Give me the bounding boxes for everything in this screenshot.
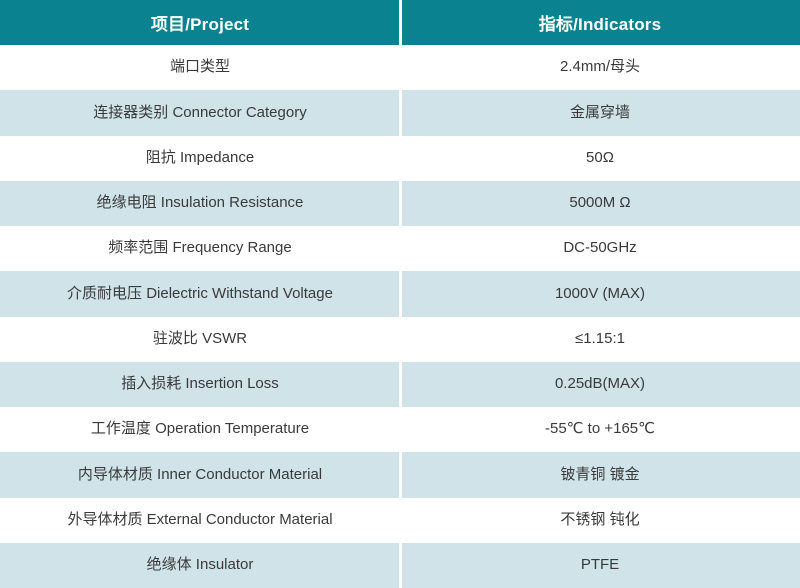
table-cell-project: 介质耐电压 Dielectric Withstand Voltage <box>0 271 400 316</box>
table-cell-indicator: -55℃ to +165℃ <box>400 407 800 452</box>
column-divider <box>399 181 402 226</box>
table-cell-project: 插入损耗 Insertion Loss <box>0 362 400 407</box>
table-cell-indicator: 2.4mm/母头 <box>400 45 800 90</box>
column-divider <box>399 226 402 271</box>
table-row: 频率范围 Frequency RangeDC-50GHz <box>0 226 800 271</box>
table-cell-project: 绝缘电阻 Insulation Resistance <box>0 181 400 226</box>
table-row: 插入损耗 Insertion Loss0.25dB(MAX) <box>0 362 800 407</box>
specification-table: 项目/Project 指标/Indicators 端口类型2.4mm/母头连接器… <box>0 0 800 588</box>
table-cell-project: 工作温度 Operation Temperature <box>0 407 400 452</box>
column-divider <box>399 452 402 497</box>
table-cell-project: 内导体材质 Inner Conductor Material <box>0 452 400 497</box>
column-divider <box>399 0 402 45</box>
table-row: 绝缘电阻 Insulation Resistance5000M Ω <box>0 181 800 226</box>
table-cell-indicator: 0.25dB(MAX) <box>400 362 800 407</box>
table-cell-indicator: DC-50GHz <box>400 226 800 271</box>
column-divider <box>399 407 402 452</box>
table-cell-indicator: PTFE <box>400 543 800 588</box>
table-cell-project: 外导体材质 External Conductor Material <box>0 498 400 543</box>
column-divider <box>399 362 402 407</box>
table-body: 端口类型2.4mm/母头连接器类别 Connector Category金属穿墙… <box>0 45 800 588</box>
table-cell-project: 绝缘体 Insulator <box>0 543 400 588</box>
column-divider <box>399 45 402 90</box>
table-row: 外导体材质 External Conductor Material不锈钢 钝化 <box>0 498 800 543</box>
table-row: 绝缘体 InsulatorPTFE <box>0 543 800 588</box>
table-cell-project: 阻抗 Impedance <box>0 136 400 181</box>
column-divider <box>399 317 402 362</box>
table-cell-project: 频率范围 Frequency Range <box>0 226 400 271</box>
table-cell-indicator: 5000M Ω <box>400 181 800 226</box>
table-row: 工作温度 Operation Temperature-55℃ to +165℃ <box>0 407 800 452</box>
table-cell-indicator: 50Ω <box>400 136 800 181</box>
column-divider <box>399 90 402 135</box>
column-divider <box>399 543 402 588</box>
column-divider <box>399 136 402 181</box>
table-cell-project: 驻波比 VSWR <box>0 317 400 362</box>
column-divider <box>399 498 402 543</box>
table-row: 端口类型2.4mm/母头 <box>0 45 800 90</box>
table-cell-project: 连接器类别 Connector Category <box>0 90 400 135</box>
table-header-cell-project: 项目/Project <box>0 0 400 45</box>
table-cell-project: 端口类型 <box>0 45 400 90</box>
table-header-row: 项目/Project 指标/Indicators <box>0 0 800 45</box>
table-row: 阻抗 Impedance50Ω <box>0 136 800 181</box>
table-cell-indicator: 1000V (MAX) <box>400 271 800 316</box>
table-row: 介质耐电压 Dielectric Withstand Voltage1000V … <box>0 271 800 316</box>
table-cell-indicator: 铍青铜 镀金 <box>400 452 800 497</box>
table-row: 连接器类别 Connector Category金属穿墙 <box>0 90 800 135</box>
table-header-cell-indicators: 指标/Indicators <box>400 0 800 45</box>
table-cell-indicator: 金属穿墙 <box>400 90 800 135</box>
table-row: 内导体材质 Inner Conductor Material铍青铜 镀金 <box>0 452 800 497</box>
table-row: 驻波比 VSWR≤1.15:1 <box>0 317 800 362</box>
table-cell-indicator: 不锈钢 钝化 <box>400 498 800 543</box>
table-cell-indicator: ≤1.15:1 <box>400 317 800 362</box>
column-divider <box>399 271 402 316</box>
